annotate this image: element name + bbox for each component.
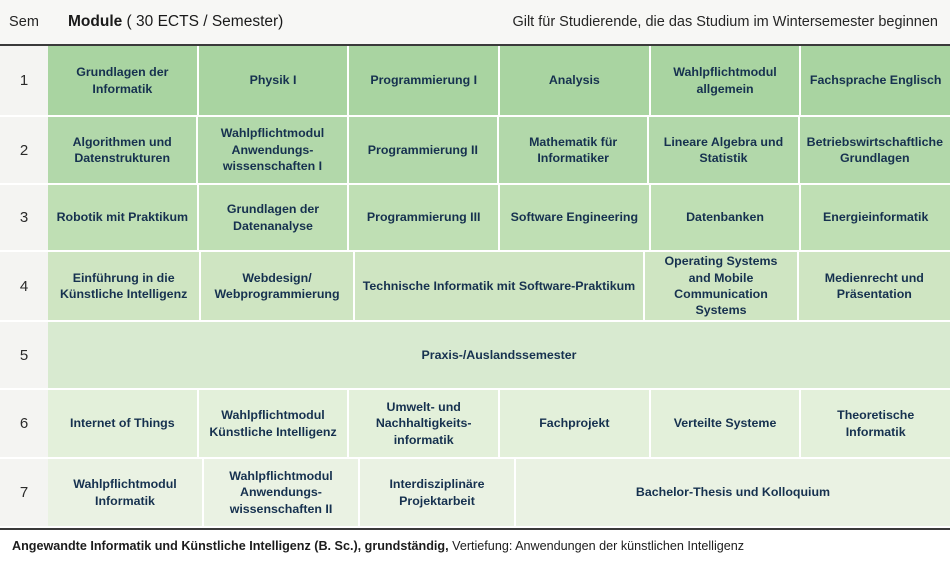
module-cells: Robotik mit PraktikumGrundlagen der Date… (48, 185, 950, 252)
semester-number: 7 (0, 459, 48, 528)
module-cell[interactable]: Programmierung III (349, 185, 498, 250)
module-cell[interactable]: Praxis-/Auslandssemester (48, 322, 950, 388)
footer-subtitle: Vertiefung: Anwendungen der künstlichen … (449, 539, 744, 553)
module-cell[interactable]: Wahlpflichtmodul Informatik (48, 459, 202, 526)
module-cell[interactable]: Betriebswirtschaftliche Grundlagen (800, 117, 950, 183)
semester-row: 7Wahlpflichtmodul InformatikWahlpflichtm… (0, 459, 950, 528)
module-cell[interactable]: Medienrecht und Präsentation (799, 252, 950, 320)
module-cell[interactable]: Theoretische Informatik (801, 390, 950, 457)
module-cell[interactable]: Umwelt- und Nachhaltigkeits- informatik (349, 390, 498, 457)
module-cells: Algorithmen und DatenstrukturenWahlpflic… (48, 117, 950, 185)
module-cells: Einführung in die Künstliche Intelligenz… (48, 252, 950, 322)
module-cell[interactable]: Programmierung I (349, 46, 498, 115)
module-cell[interactable]: Energieinformatik (801, 185, 950, 250)
module-cell[interactable]: Wahlpflichtmodul Anwendungs- wissenschaf… (204, 459, 358, 526)
module-cells: Wahlpflichtmodul InformatikWahlpflichtmo… (48, 459, 950, 528)
table-header: Sem Module ( 30 ECTS / Semester) Gilt fü… (0, 0, 950, 46)
module-cell[interactable]: Mathematik für Informatiker (499, 117, 647, 183)
header-sem-label: Sem (0, 14, 48, 30)
module-cell[interactable]: Robotik mit Praktikum (48, 185, 197, 250)
curriculum-page: Sem Module ( 30 ECTS / Semester) Gilt fü… (0, 0, 950, 562)
header-validity-note: Gilt für Studierende, die das Studium im… (512, 14, 950, 30)
module-cell[interactable]: Analysis (500, 46, 649, 115)
module-cell[interactable]: Wahlpflichtmodul Anwendungs- wissenschaf… (198, 117, 346, 183)
module-cell[interactable]: Webdesign/ Webprogrammierung (201, 252, 352, 320)
semester-row: 6Internet of ThingsWahlpflichtmodul Küns… (0, 390, 950, 459)
semester-row: 4Einführung in die Künstliche Intelligen… (0, 252, 950, 322)
module-cells: Internet of ThingsWahlpflichtmodul Künst… (48, 390, 950, 459)
semester-number: 4 (0, 252, 48, 322)
footer-title-strong: Angewandte Informatik und Künstliche Int… (12, 539, 449, 553)
semester-number: 6 (0, 390, 48, 459)
module-cell[interactable]: Programmierung II (349, 117, 497, 183)
module-cell[interactable]: Bachelor-Thesis und Kolloquium (516, 459, 950, 526)
module-cell[interactable]: Technische Informatik mit Software-Prakt… (355, 252, 644, 320)
semester-row: 2Algorithmen und DatenstrukturenWahlpfli… (0, 117, 950, 185)
header-module-label: Module ( 30 ECTS / Semester) (48, 13, 512, 31)
curriculum-grid: 1Grundlagen der InformatikPhysik IProgra… (0, 46, 950, 528)
module-cells: Praxis-/Auslandssemester (48, 322, 950, 390)
module-cell[interactable]: Wahlpflichtmodul allgemein (651, 46, 800, 115)
module-cell[interactable]: Algorithmen und Datenstrukturen (48, 117, 196, 183)
semester-number: 3 (0, 185, 48, 252)
module-cell[interactable]: Fachprojekt (500, 390, 649, 457)
module-cell[interactable]: Verteilte Systeme (651, 390, 800, 457)
module-cell[interactable]: Internet of Things (48, 390, 197, 457)
semester-row: 1Grundlagen der InformatikPhysik IProgra… (0, 46, 950, 117)
module-cell[interactable]: Fachsprache Englisch (801, 46, 950, 115)
semester-number: 1 (0, 46, 48, 117)
module-cell[interactable]: Lineare Algebra und Statistik (649, 117, 797, 183)
module-cell[interactable]: Wahlpflichtmodul Künstliche Intelligenz (199, 390, 348, 457)
module-cell[interactable]: Grundlagen der Informatik (48, 46, 197, 115)
footer-caption: Angewandte Informatik und Künstliche Int… (0, 528, 950, 562)
semester-number: 2 (0, 117, 48, 185)
module-cell[interactable]: Operating Systems and Mobile Communicati… (645, 252, 796, 320)
header-module-strong: Module (68, 13, 122, 30)
module-cell[interactable]: Interdisziplinäre Projektarbeit (360, 459, 514, 526)
footer-text: Angewandte Informatik und Künstliche Int… (12, 539, 744, 553)
header-module-rest: ( 30 ECTS / Semester) (122, 13, 283, 30)
module-cell[interactable]: Grundlagen der Datenanalyse (199, 185, 348, 250)
module-cell[interactable]: Einführung in die Künstliche Intelligenz (48, 252, 199, 320)
semester-row: 5Praxis-/Auslandssemester (0, 322, 950, 390)
module-cell[interactable]: Software Engineering (500, 185, 649, 250)
semester-row: 3Robotik mit PraktikumGrundlagen der Dat… (0, 185, 950, 252)
semester-number: 5 (0, 322, 48, 390)
module-cells: Grundlagen der InformatikPhysik IProgram… (48, 46, 950, 117)
module-cell[interactable]: Physik I (199, 46, 348, 115)
module-cell[interactable]: Datenbanken (651, 185, 800, 250)
